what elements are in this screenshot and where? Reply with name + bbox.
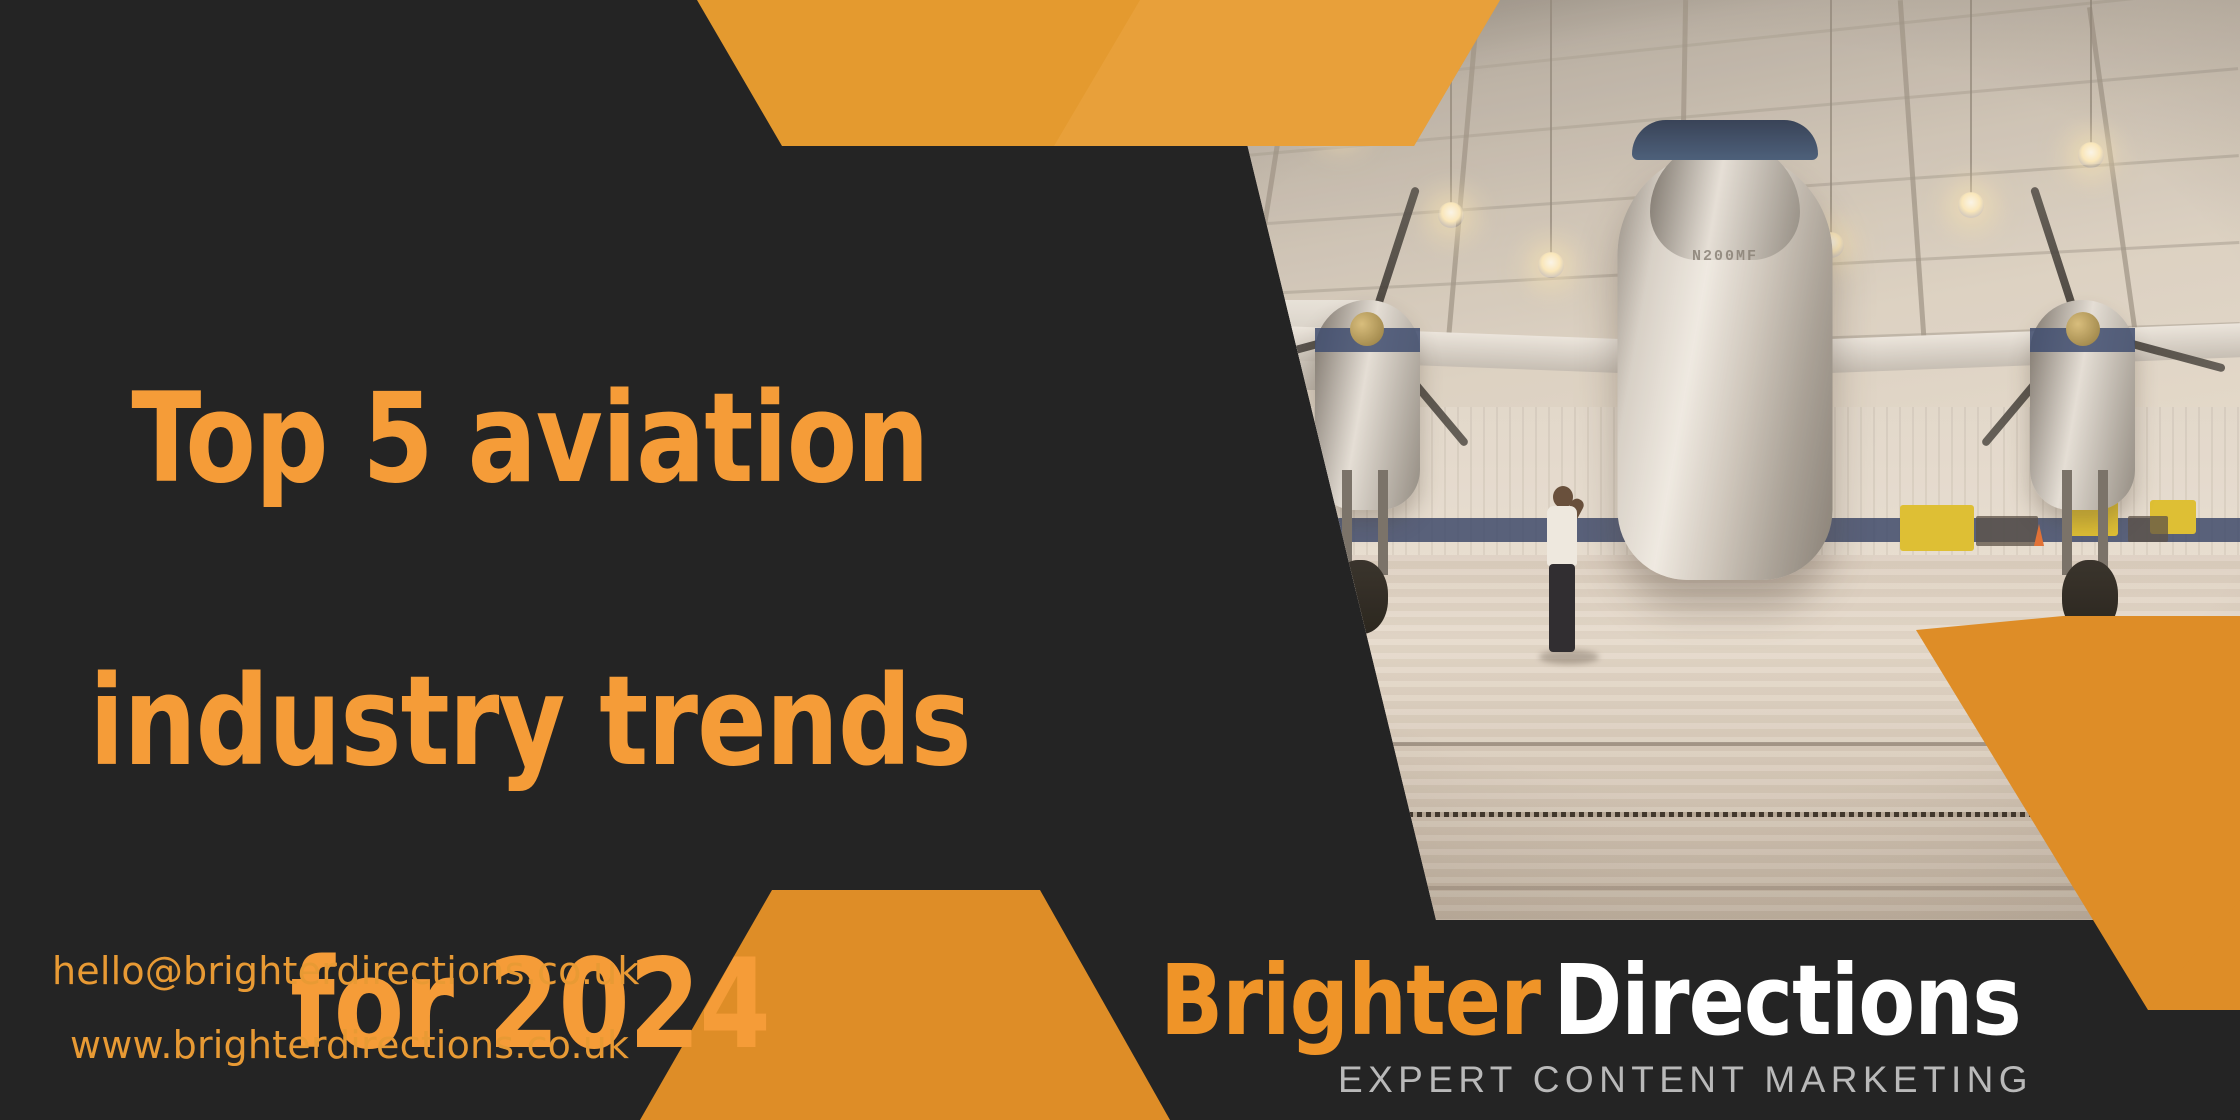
contact-website[interactable]: www.brighterdirections.co.uk (70, 1026, 640, 1064)
headline-line-1: Top 5 aviation (42, 369, 1017, 510)
contact-details: hello@brighterdirections.co.uk www.brigh… (52, 952, 640, 1064)
social-media-banner: N200MF Top 5 aviation industry trends fo… (0, 0, 2240, 1120)
brand-logo[interactable]: BrighterDirections EXPERT CONTENT MARKET… (1160, 952, 2120, 1101)
logo-word-brighter: Brighter (1160, 944, 1540, 1057)
logo-wordmark: BrighterDirections (1160, 952, 2072, 1049)
headline-line-2: industry trends (42, 652, 1017, 793)
logo-tagline: EXPERT CONTENT MARKETING (1338, 1059, 2120, 1101)
logo-word-directions: Directions (1553, 944, 2020, 1057)
contact-email[interactable]: hello@brighterdirections.co.uk (52, 952, 640, 990)
